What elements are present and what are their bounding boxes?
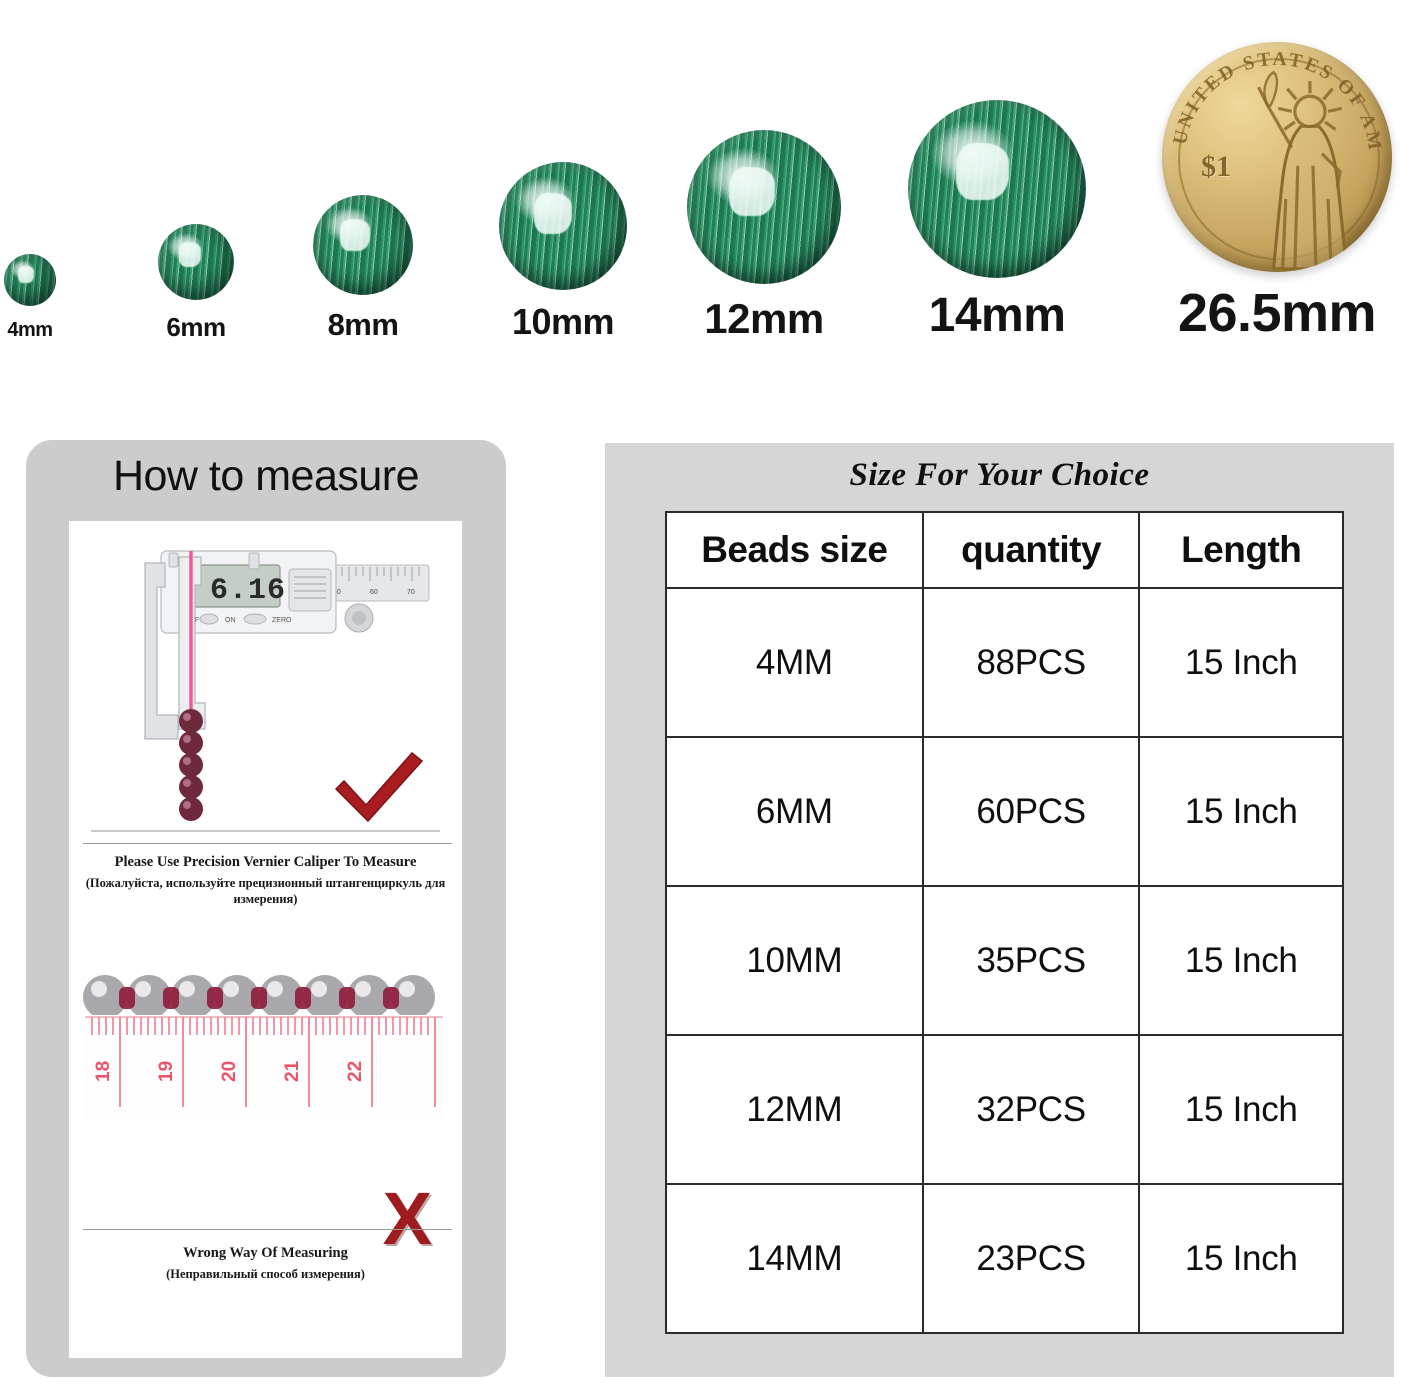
bead-size-label: 14mm: [929, 292, 1066, 340]
bead-size-item-6mm: 6mm: [106, 224, 286, 340]
table-header-row: Beads size quantity Length: [666, 512, 1343, 588]
bead-size-item-8mm: 8mm: [273, 195, 453, 340]
cell-beads-size: 14MM: [666, 1184, 923, 1333]
cell-length: 15 Inch: [1139, 886, 1343, 1035]
wrong-caption-en: Wrong Way Of Measuring: [75, 1244, 456, 1262]
cell-quantity: 60PCS: [923, 737, 1140, 886]
cell-length: 15 Inch: [1139, 1035, 1343, 1184]
tape-measure-photo: 18 19 20 21 22: [83, 957, 448, 1147]
header-length: Length: [1139, 512, 1343, 588]
us-dollar-coin: UNITED STATES OF AMERICA$1: [1162, 42, 1392, 272]
bead-size-label: 10mm: [512, 304, 614, 340]
svg-text:60: 60: [370, 589, 378, 596]
tape-number: 21: [282, 1060, 303, 1082]
tape-number: 20: [219, 1061, 240, 1082]
bead-size-label: 4mm: [7, 320, 52, 340]
coin-denomination: $1: [1201, 150, 1231, 184]
statue-of-liberty-icon: [1231, 60, 1383, 272]
wrong-measure-card: 18 19 20 21 22 X Wrong Way Of Measuring …: [69, 939, 462, 1314]
table-row: 6MM60PCS15 Inch: [666, 737, 1343, 886]
size-table-title: Size For Your Choice: [605, 443, 1394, 494]
svg-text:ZERO: ZERO: [272, 617, 292, 624]
how-to-measure-title: How to measure: [26, 440, 506, 501]
card-divider: [83, 1229, 452, 1230]
how-to-measure-panel: How to measure: [26, 440, 506, 1377]
vernier-caliper-photo: 50 60 70 mm 6.16 OFF: [83, 543, 448, 835]
bead-size-item-4mm: 4mm: [0, 254, 120, 340]
bead-size-item-14mm: 14mm: [907, 100, 1087, 340]
card-divider: [83, 843, 452, 844]
correct-caption-en: Please Use Precision Vernier Caliper To …: [75, 853, 456, 871]
tape-number: 22: [345, 1061, 366, 1082]
table-row: 10MM35PCS15 Inch: [666, 886, 1343, 1035]
malachite-bead: [313, 195, 413, 295]
checkmark-icon: [330, 749, 426, 827]
cell-length: 15 Inch: [1139, 737, 1343, 886]
bead-size-label: 26.5mm: [1178, 286, 1376, 340]
malachite-bead: [158, 224, 234, 300]
wrong-caption-ru: (Неправильный способ измерения): [73, 1267, 458, 1283]
table-row: 14MM23PCS15 Inch: [666, 1184, 1343, 1333]
bead-size-comparison-strip: 4mm6mm8mm10mm12mm14mmUNITED STATES OF AM…: [0, 0, 1414, 415]
bead-size-label: 8mm: [328, 309, 399, 340]
bead-size-item-10mm: 10mm: [473, 162, 653, 340]
cell-beads-size: 12MM: [666, 1035, 923, 1184]
header-beads-size: Beads size: [666, 512, 923, 588]
header-quantity: quantity: [923, 512, 1140, 588]
size-for-your-choice-panel: Size For Your Choice Beads size quantity…: [605, 443, 1394, 1377]
malachite-bead: [4, 254, 56, 306]
bead-size-label: 12mm: [704, 298, 823, 340]
cell-beads-size: 4MM: [666, 588, 923, 737]
correct-caption-ru: (Пожалуйста, используйте прецизионный шт…: [71, 876, 460, 907]
cell-quantity: 32PCS: [923, 1035, 1140, 1184]
table-row: 4MM88PCS15 Inch: [666, 588, 1343, 737]
size-table: Beads size quantity Length 4MM88PCS15 In…: [665, 511, 1344, 1334]
malachite-bead: [687, 130, 841, 284]
cell-quantity: 23PCS: [923, 1184, 1140, 1333]
bead-size-label: 6mm: [166, 314, 225, 340]
cell-quantity: 35PCS: [923, 886, 1140, 1035]
malachite-bead: [908, 100, 1086, 278]
svg-text:ON: ON: [225, 617, 236, 624]
tape-number: 19: [156, 1061, 177, 1082]
tape-number: 18: [93, 1061, 114, 1082]
bead-size-item-26-5mm: UNITED STATES OF AMERICA$126.5mm: [1187, 42, 1367, 340]
cell-beads-size: 10MM: [666, 886, 923, 1035]
cell-quantity: 88PCS: [923, 588, 1140, 737]
cell-length: 15 Inch: [1139, 588, 1343, 737]
bead-size-item-12mm: 12mm: [674, 130, 854, 340]
cell-beads-size: 6MM: [666, 737, 923, 886]
malachite-bead: [499, 162, 627, 290]
svg-text:70: 70: [407, 589, 415, 596]
cell-length: 15 Inch: [1139, 1184, 1343, 1333]
caliper-reading-value: 6.16: [210, 574, 286, 608]
table-row: 12MM32PCS15 Inch: [666, 1035, 1343, 1184]
